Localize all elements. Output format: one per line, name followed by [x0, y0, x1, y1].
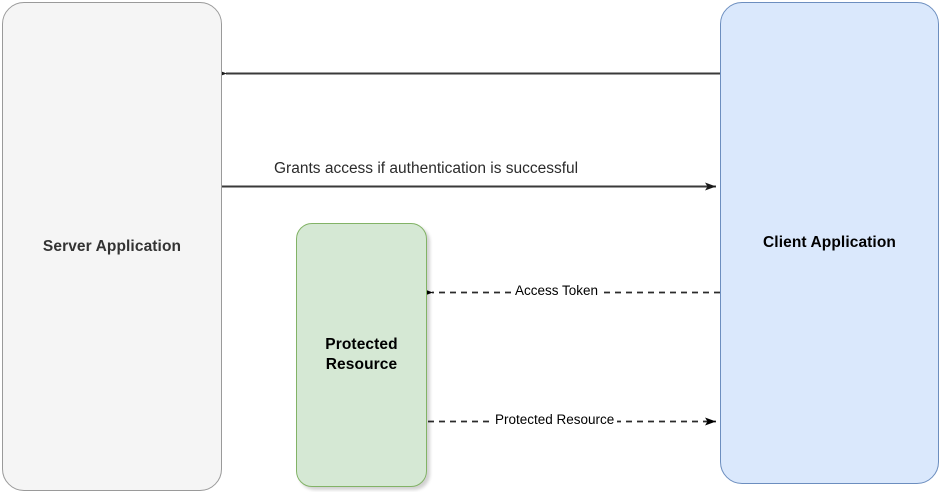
- node-server-application[interactable]: Server Application: [2, 2, 222, 491]
- edge-label-access-token: Access Token: [512, 283, 601, 298]
- edge-label-grants-access: Grants access if authentication is succe…: [271, 160, 581, 178]
- node-protected-resource-label: Protected Resource: [325, 335, 397, 375]
- edge-label-protected-resource: Protected Resource: [492, 412, 617, 427]
- node-server-application-label: Server Application: [43, 237, 181, 257]
- diagram-canvas: Server Application Client Application Pr…: [0, 0, 940, 492]
- node-protected-resource[interactable]: Protected Resource: [296, 223, 427, 487]
- node-client-application-label: Client Application: [763, 233, 896, 253]
- node-client-application[interactable]: Client Application: [720, 2, 939, 484]
